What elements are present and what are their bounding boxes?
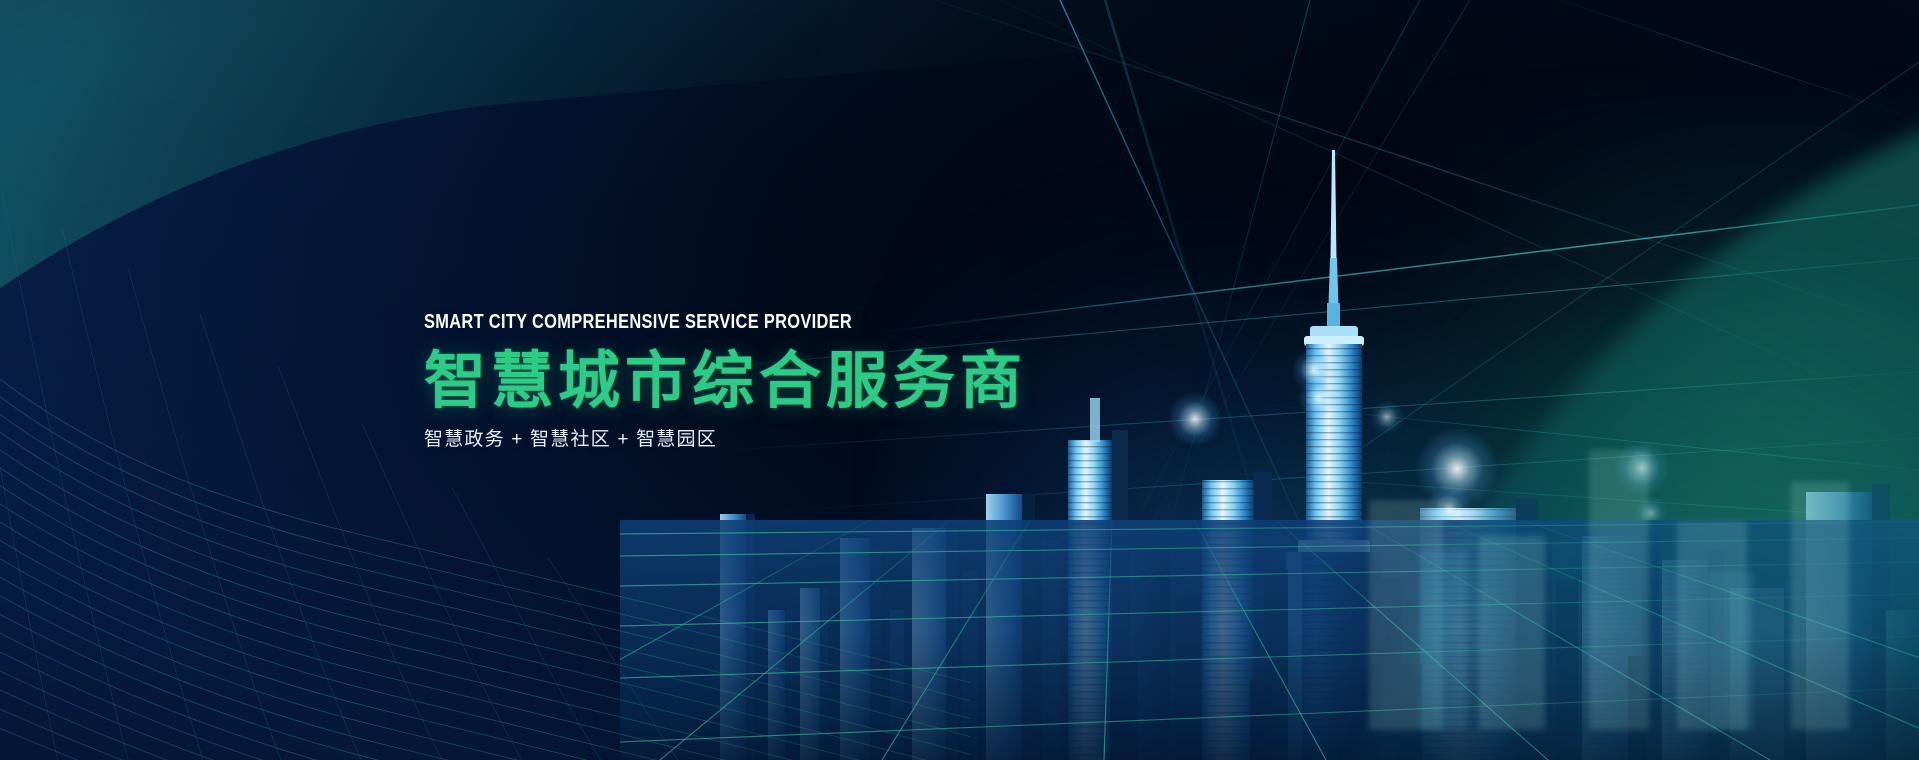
- smart-city-hero-banner: SMART CITY COMPREHENSIVE SERVICE PROVIDE…: [0, 0, 1919, 760]
- translucent-slab-overlay: [1359, 340, 1919, 760]
- hero-copy-block: SMART CITY COMPREHENSIVE SERVICE PROVIDE…: [424, 312, 1084, 449]
- hero-eyebrow-english: SMART CITY COMPREHENSIVE SERVICE PROVIDE…: [424, 312, 952, 333]
- hero-subline-services: 智慧政务 + 智慧社区 + 智慧园区: [424, 430, 1084, 449]
- hero-headline-chinese: 智慧城市综合服务商: [424, 350, 1084, 414]
